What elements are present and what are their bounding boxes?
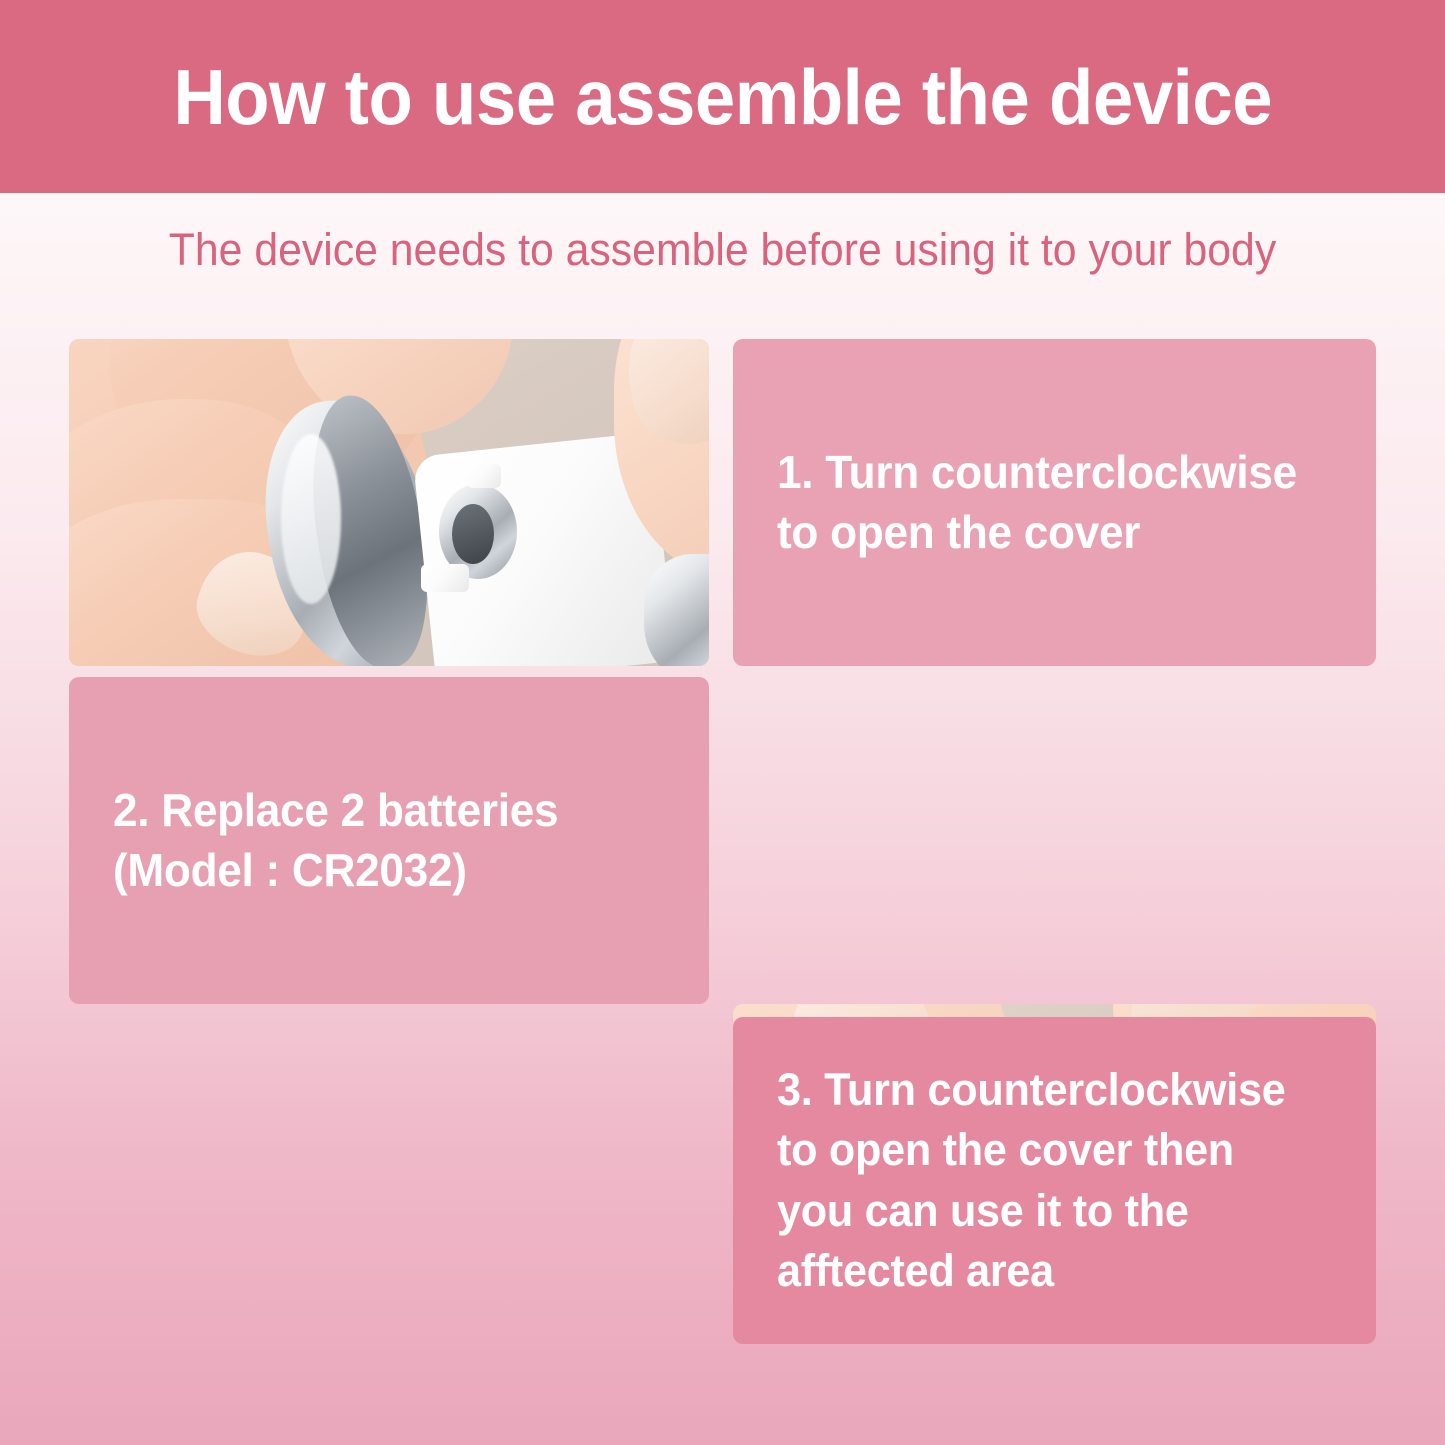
step-1-line-1: 1. Turn counterclockwise: [777, 443, 1310, 503]
step-3-line-4: afftected area: [777, 1241, 1310, 1301]
infographic-page: How to use assemble the device The devic…: [0, 0, 1445, 1445]
step-1-photo: [69, 339, 709, 666]
cap-highlight: [281, 434, 341, 604]
device-contacts: [452, 504, 494, 564]
step-2-line-1: 2. Replace 2 batteries: [113, 781, 643, 841]
subtitle-text: The device needs to assemble before usin…: [36, 225, 1409, 275]
step-3-text-panel: 3. Turn counterclockwise to open the cov…: [733, 1017, 1376, 1344]
step-2-line-2: (Model : CR2032): [113, 841, 643, 901]
step-3-line-1: 3. Turn counterclockwise: [777, 1060, 1310, 1120]
step-3-line-2: to open the cover then: [777, 1120, 1310, 1180]
header-banner: How to use assemble the device: [0, 0, 1445, 193]
step-1-text-panel: 1. Turn counterclockwise to open the cov…: [733, 339, 1376, 666]
step-1-line-2: to open the cover: [777, 503, 1310, 563]
device-tab-upper: [467, 464, 501, 488]
step-3-line-3: you can use it to the: [777, 1181, 1310, 1241]
device-tab-lower: [421, 564, 469, 592]
page-title: How to use assemble the device: [173, 58, 1272, 136]
step-2-text-panel: 2. Replace 2 batteries (Model : CR2032): [69, 677, 709, 1004]
